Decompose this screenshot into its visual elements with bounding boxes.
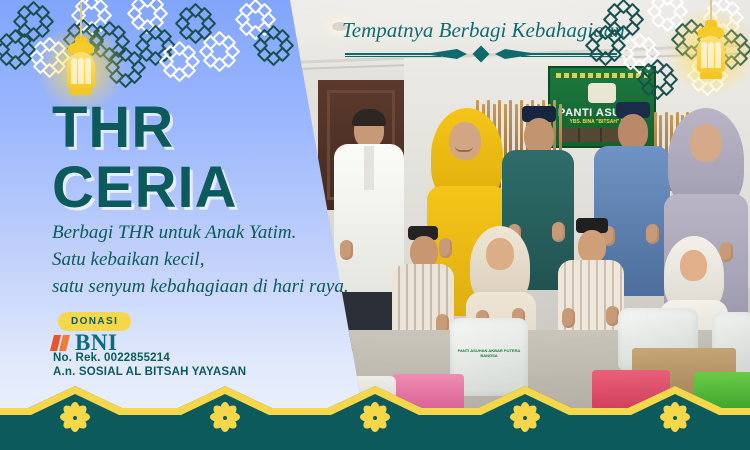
rosette-medallion-icon	[359, 402, 391, 434]
lantern-icon-right	[694, 20, 728, 82]
rosette-medallion-icon	[59, 402, 91, 434]
rosette-medallion-icon	[209, 402, 241, 434]
rosette-medallion-icon	[509, 402, 541, 434]
rosette-medallion-icon	[659, 402, 691, 434]
border-arch	[450, 386, 600, 450]
account-name: A.n. SOSIAL AL BITSAH YAYASAN	[53, 366, 246, 378]
border-arch	[300, 386, 450, 450]
border-arch	[600, 386, 750, 450]
bni-wordmark: BNI	[75, 331, 117, 354]
account-number: No. Rek. 0022855214	[53, 352, 170, 364]
poster-canvas: PANTI ASUHAN YBS. BINA "BITSAH" KOTA	[0, 0, 750, 450]
description-text: Berbagi THR untuk Anak Yatim. Satu kebai…	[52, 220, 372, 301]
lantern-icon-left	[64, 36, 98, 98]
header-tagline: Tempatnya Berbagi Kebahagiaan	[342, 18, 625, 43]
ornamental-divider-icon	[345, 47, 617, 61]
description-line-1: Berbagi THR untuk Anak Yatim.	[52, 220, 372, 247]
border-arch	[150, 386, 300, 450]
description-line-3: satu senyum kebahagiaan di hari raya.	[52, 274, 372, 301]
bni-46-icon	[52, 333, 72, 353]
title-line-1: THR	[52, 100, 237, 156]
donation-badge[interactable]: DONASI	[58, 312, 131, 331]
bni-logo: BNI	[52, 331, 117, 354]
ornamental-border	[0, 386, 750, 450]
description-line-2: Satu kebaikan kecil,	[52, 247, 372, 274]
border-baseline	[0, 444, 750, 450]
page-title: THR CERIA	[52, 100, 237, 215]
title-line-2: CERIA	[52, 160, 237, 216]
border-arch	[0, 386, 150, 450]
